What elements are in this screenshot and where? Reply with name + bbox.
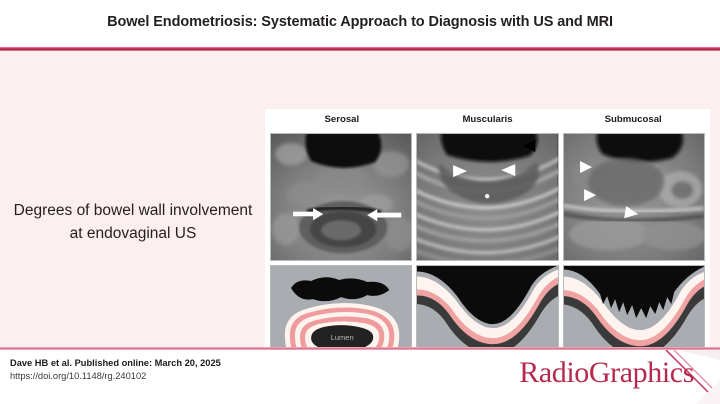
page-title: Bowel Endometriosis: Systematic Approach… (0, 14, 720, 30)
body-area: Degrees of bowel wall involvement at end… (0, 51, 720, 347)
citation-text: Dave HB et al. Published online: March 2… (10, 358, 221, 368)
endovaginal-us-submucosal (563, 133, 705, 261)
figure-caption: Degrees of bowel wall involvement at end… (8, 199, 258, 246)
endovaginal-us-muscularis (416, 133, 558, 261)
us-image-submucosal (564, 134, 704, 260)
figure-column-headers: Serosal Muscularis Submucosal (269, 114, 706, 130)
lumen-label-serosal: Lumen (331, 333, 354, 342)
column-header-serosal: Serosal (269, 114, 415, 130)
us-image-serosal (271, 134, 411, 260)
radiographics-logo: RadioGraphics (519, 356, 694, 390)
figure-row-ultrasound (270, 133, 705, 261)
us-image-muscularis (417, 134, 557, 260)
doi-link[interactable]: https://doi.org/10.1148/rg.240102 (10, 371, 146, 381)
column-header-submucosal: Submucosal (560, 114, 706, 130)
endovaginal-us-serosal (270, 133, 412, 261)
footer-bar: Dave HB et al. Published online: March 2… (0, 350, 720, 404)
column-header-muscularis: Muscularis (415, 114, 561, 130)
title-band: Bowel Endometriosis: Systematic Approach… (0, 0, 720, 47)
slide-root: Bowel Endometriosis: Systematic Approach… (0, 0, 720, 404)
